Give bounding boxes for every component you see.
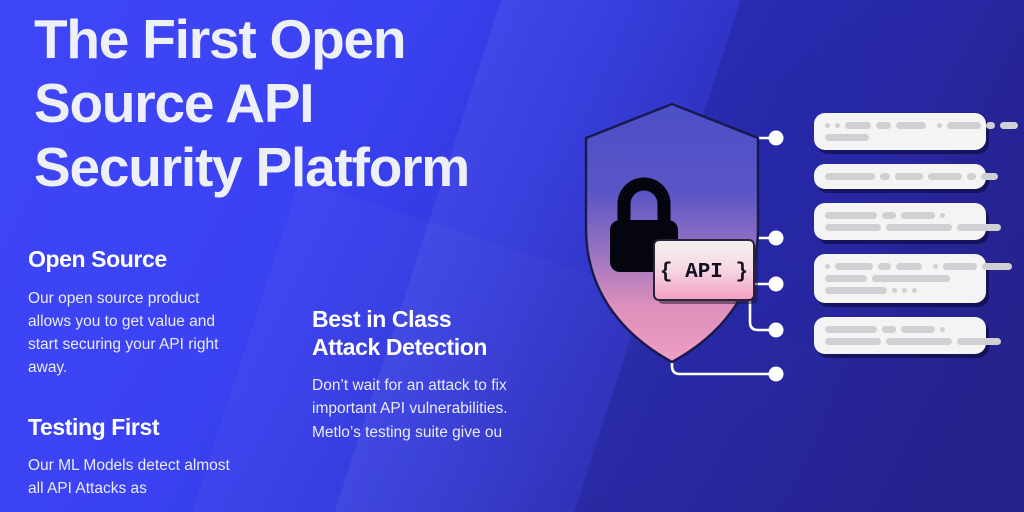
placeholder-dot: [902, 288, 907, 293]
placeholder-bar: [825, 275, 867, 282]
headline-line-3: Security Platform: [34, 136, 574, 200]
placeholder-bar: [982, 263, 1012, 270]
placeholder-bar: [1000, 122, 1018, 129]
endpoint-card[interactable]: [814, 164, 986, 189]
placeholder-bar: [957, 338, 1001, 345]
placeholder-bar: [901, 212, 935, 219]
placeholder-bar: [825, 326, 877, 333]
placeholder-bar: [901, 326, 935, 333]
placeholder-line: [825, 275, 975, 282]
endpoint-card-list: [814, 113, 986, 368]
feature-testing-first: Testing First Our ML Models detect almos…: [28, 414, 240, 501]
feature-open-source: Open Source Our open source product allo…: [28, 246, 240, 380]
feature-body: Our ML Models detect almost all API Atta…: [28, 454, 240, 501]
feature-column-left: Open Source Our open source product allo…: [28, 246, 240, 501]
placeholder-bar: [896, 263, 922, 270]
placeholder-bar: [882, 326, 896, 333]
feature-title: Testing First: [28, 414, 240, 442]
placeholder-bar: [876, 122, 891, 129]
headline-line-1: The First Open: [34, 8, 574, 72]
placeholder-bar: [986, 122, 995, 129]
placeholder-line: [825, 287, 975, 294]
placeholder-line: [825, 212, 975, 219]
api-card: { API }: [654, 240, 758, 304]
placeholder-bar: [825, 134, 869, 141]
connector-dots: [769, 131, 784, 382]
placeholder-bar: [882, 212, 896, 219]
placeholder-bar: [957, 224, 1001, 231]
placeholder-dot: [940, 213, 945, 218]
feature-title: Best in Class Attack Detection: [312, 306, 524, 361]
placeholder-line: [825, 224, 975, 231]
placeholder-bar: [825, 173, 875, 180]
endpoint-card[interactable]: [814, 254, 986, 303]
placeholder-bar: [981, 173, 998, 180]
placeholder-bar: [886, 224, 952, 231]
placeholder-dot: [912, 288, 917, 293]
placeholder-bar: [825, 338, 881, 345]
placeholder-line: [825, 122, 975, 129]
placeholder-bar: [895, 173, 923, 180]
placeholder-bar: [825, 224, 881, 231]
placeholder-line: [825, 326, 975, 333]
endpoint-card[interactable]: [814, 203, 986, 240]
placeholder-bar: [928, 173, 962, 180]
placeholder-line: [825, 173, 998, 180]
api-card-label: { API }: [660, 261, 748, 284]
placeholder-dot: [933, 264, 938, 269]
feature-body: Our open source product allows you to ge…: [28, 287, 240, 380]
feature-title: Open Source: [28, 246, 240, 274]
headline-line-2: Source API: [34, 72, 574, 136]
placeholder-bar: [943, 263, 977, 270]
placeholder-dot: [835, 123, 840, 128]
hero-banner: The First Open Source API Security Platf…: [0, 0, 1024, 512]
placeholder-dot: [937, 123, 942, 128]
endpoint-card[interactable]: [814, 113, 986, 150]
page-title: The First Open Source API Security Platf…: [34, 8, 574, 199]
placeholder-bar: [880, 173, 890, 180]
placeholder-bar: [947, 122, 981, 129]
feature-body: Don’t wait for an attack to fix importan…: [312, 374, 524, 444]
placeholder-bar: [825, 212, 877, 219]
placeholder-line: [825, 134, 975, 141]
feature-column-middle: Best in Class Attack Detection Don’t wai…: [312, 306, 524, 444]
placeholder-bar: [878, 263, 891, 270]
placeholder-dot: [940, 327, 945, 332]
placeholder-line: [825, 338, 975, 345]
placeholder-dot: [825, 264, 830, 269]
placeholder-bar: [886, 338, 952, 345]
placeholder-bar: [845, 122, 871, 129]
placeholder-dot: [892, 288, 897, 293]
placeholder-dot: [825, 123, 830, 128]
feature-attack-detection: Best in Class Attack Detection Don’t wai…: [312, 306, 524, 444]
placeholder-bar: [967, 173, 976, 180]
endpoint-card[interactable]: [814, 317, 986, 354]
placeholder-bar: [896, 122, 926, 129]
placeholder-bar: [825, 287, 887, 294]
placeholder-line: [825, 263, 975, 270]
placeholder-bar: [835, 263, 873, 270]
placeholder-bar: [872, 275, 950, 282]
